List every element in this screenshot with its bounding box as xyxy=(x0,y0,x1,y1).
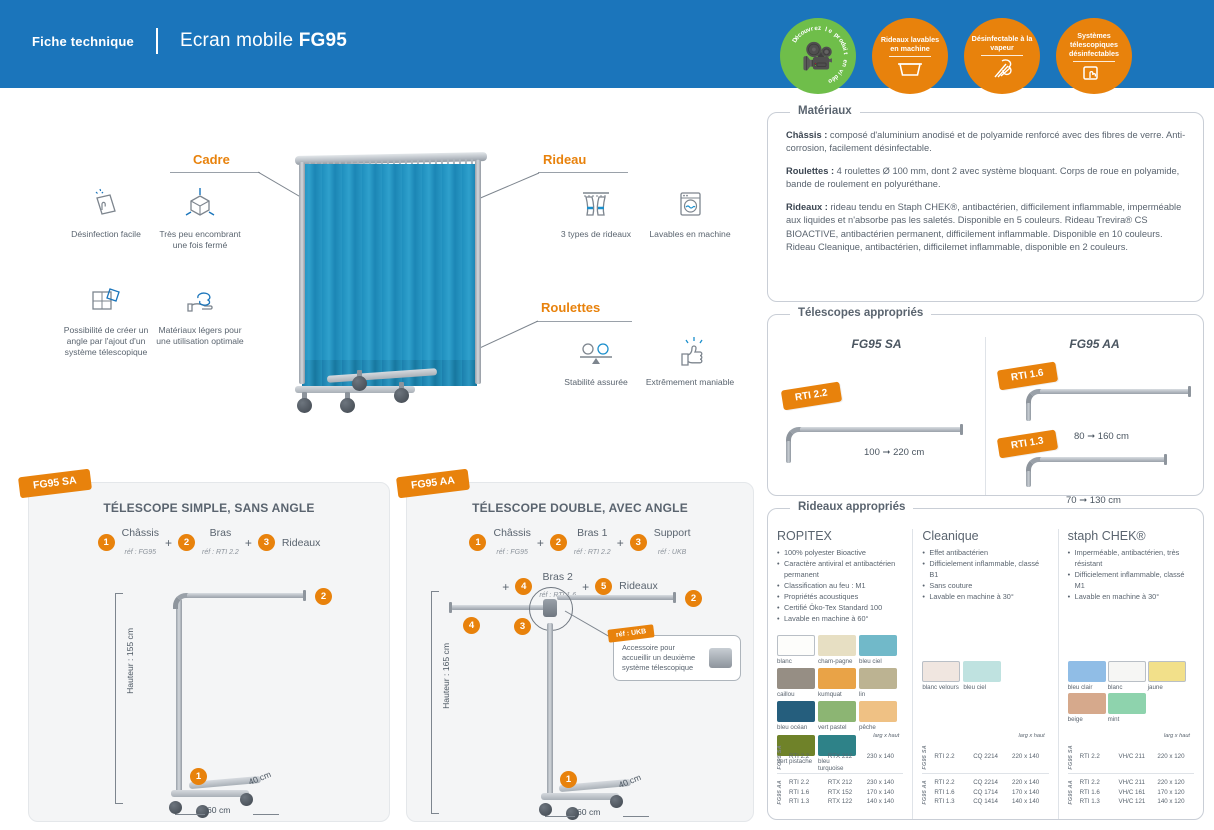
feature-compact-label: Très peu encombrant une fois fermé xyxy=(152,229,248,251)
table-cell: 170 x 140 xyxy=(1012,788,1049,798)
telescope-rti13-range: 70 ➞ 130 cm xyxy=(1066,495,1121,506)
color-swatch: mint xyxy=(1108,693,1146,723)
step-number: 3 xyxy=(630,534,647,551)
telescope-aa-title: FG95 AA xyxy=(986,337,1203,351)
blue-curtain xyxy=(302,164,477,386)
telescopes-columns: FG95 SA RTI 2.2 100 ➞ 220 cm FG95 AA RTI… xyxy=(768,315,1203,495)
curtain-bullet: Difficielement inflammable, classé B1 xyxy=(922,559,1048,581)
feature-disinfection-label: Désinfection facile xyxy=(58,229,154,240)
curtain-bullet: 100% polyester Bioactive xyxy=(777,548,903,559)
ref-table-rows: RTI 2.2RTX 212230 x 140RTI 1.6RTX 152170… xyxy=(789,778,903,807)
ref-table-rows: RTI 2.2CQ 2214220 x 140 xyxy=(934,752,1048,762)
plus-sign: + xyxy=(165,536,172,550)
ref-table-group: FG95 SARTI 2.2VH/C 211220 x 120 xyxy=(1068,741,1194,774)
fiche-technique-label: Fiche technique xyxy=(32,34,134,49)
color-swatch-label: jaune xyxy=(1148,684,1186,691)
feature-disinfection: Désinfection facile xyxy=(58,182,154,240)
curtain-column-ropitex: ROPITEX 100% polyester BioactiveCaractèr… xyxy=(768,529,912,819)
table-row: RTI 2.2VH/C 211220 x 120 xyxy=(1080,752,1194,762)
curtain-ropitex-name: ROPITEX xyxy=(777,529,903,543)
panel-aa-marker-arm4: 4 xyxy=(463,617,480,634)
curtain-bullet: Lavable en machine à 30° xyxy=(922,592,1048,603)
curtain-bullet: Caractère antiviral et antibactérien per… xyxy=(777,559,903,581)
step-number: 4 xyxy=(515,578,532,595)
color-swatch: bleu clair xyxy=(1068,661,1106,691)
curtain-cleanique-swatches: blanc veloursbleu ciel xyxy=(922,661,1048,691)
plus-sign: + xyxy=(245,536,252,550)
telescope-column-aa: FG95 AA RTI 1.6 80 ➞ 160 cm RTI 1.3 70 ➞… xyxy=(985,337,1203,495)
panel-sa-post xyxy=(176,599,182,797)
feature-curtain-types: 3 types de rideaux xyxy=(548,182,644,240)
table-cell: VH/C 211 xyxy=(1119,752,1158,762)
callout-cadre: Cadre xyxy=(193,152,230,167)
materials-roulettes: Roulettes : 4 roulettes Ø 100 mm, dont 2… xyxy=(786,165,1187,192)
ref-table-group-tag: FG95 AA xyxy=(1068,780,1074,805)
table-row: RTI 1.3CQ 1414140 x 140 xyxy=(934,797,1048,807)
color-swatch-box xyxy=(818,668,856,689)
rod-vertical xyxy=(786,441,791,463)
feature-stability-label: Stabilité assurée xyxy=(548,377,644,388)
table-cell: RTI 2.2 xyxy=(1080,778,1119,788)
table-row: RTI 2.2VH/C 211220 x 120 xyxy=(1080,778,1194,788)
color-swatch-label: cham-pagne xyxy=(818,658,856,665)
rod-end-cap xyxy=(960,424,963,435)
curtain-ropitex-table: larg x hautFG95 SARTI 2.2RTX 212230 x 14… xyxy=(777,733,903,811)
curtain-staphchek-name: staph CHEK® xyxy=(1068,529,1194,543)
color-swatch-box xyxy=(1148,661,1186,682)
table-cell: RTX 212 xyxy=(828,752,867,762)
frame-post-right xyxy=(475,160,481,384)
materials-rideaux: Rideaux : rideau tendu en Staph CHEK®, a… xyxy=(786,201,1187,255)
color-swatch-box xyxy=(777,635,815,656)
color-swatch-label: beige xyxy=(1068,716,1106,723)
panel-sa-step-1: 1 Châssis réf : FG95 xyxy=(98,527,159,559)
table-cell: 220 x 120 xyxy=(1157,752,1194,762)
telescopes-card-label: Télescopes appropriés xyxy=(790,307,931,319)
telescope-ribbon-rti22: RTI 2.2 xyxy=(781,382,842,411)
curtain-cleanique-table: larg x hautFG95 SARTI 2.2CQ 2214220 x 14… xyxy=(922,733,1048,811)
washable-badge-label: Rideaux lavables en machine xyxy=(876,35,944,53)
color-swatch: blanc xyxy=(1108,661,1146,691)
color-swatch-box xyxy=(922,661,960,682)
color-swatch: lin xyxy=(859,668,897,698)
table-cell: CQ 2214 xyxy=(973,752,1012,762)
plus-sign: + xyxy=(582,580,589,594)
table-cell: RTI 1.6 xyxy=(934,788,973,798)
telescope-rod-rti16 xyxy=(1026,385,1194,425)
ref-table-rows: RTI 2.2VH/C 211220 x 120RTI 1.6VH/C 1611… xyxy=(1080,778,1194,807)
color-swatch: pêche xyxy=(859,701,897,731)
color-swatch: bleu océan xyxy=(777,701,815,731)
curtain-column-cleanique: Cleanique Effet antibactérienDifficielem… xyxy=(912,529,1057,819)
curtains-columns: ROPITEX 100% polyester BioactiveCaractèr… xyxy=(768,509,1203,819)
color-swatch-label: kumquat xyxy=(818,691,856,698)
header-divider xyxy=(156,28,158,54)
page-title-model: FG95 xyxy=(299,30,347,51)
telescope-sa-range: 100 ➞ 220 cm xyxy=(864,447,924,458)
panel-sa-marker-arm: 2 xyxy=(315,588,332,605)
step-number: 3 xyxy=(258,534,275,551)
curtain-ropitex-bullets: 100% polyester BioactiveCaractère antivi… xyxy=(777,548,903,625)
color-swatch-label: blanc xyxy=(1108,684,1146,691)
table-row: RTI 1.6RTX 152170 x 140 xyxy=(789,788,903,798)
table-cell: 220 x 120 xyxy=(1157,778,1194,788)
table-cell: RTI 2.2 xyxy=(934,752,973,762)
color-swatch-label: blanc velours xyxy=(922,684,960,691)
rod-horizontal xyxy=(1040,389,1190,394)
rod-horizontal xyxy=(1040,457,1166,462)
panel-sa-width-line-right xyxy=(253,814,279,815)
panel-aa-width-line-left xyxy=(545,816,575,817)
panel-sa-width-line-left xyxy=(175,814,205,815)
hand-wipe-icon xyxy=(1082,64,1106,82)
panel-sa-caster-1 xyxy=(169,801,182,814)
wash-basin-icon xyxy=(897,59,923,77)
panel-sa-base-front xyxy=(171,790,249,797)
step-ref: réf : RTI 2.2 xyxy=(202,549,239,556)
color-swatch: beige xyxy=(1068,693,1106,723)
feature-machine-washable: Lavables en machine xyxy=(642,182,738,240)
color-swatch-box xyxy=(963,661,1001,682)
feature-maneuverable-label: Extrêmement maniable xyxy=(642,377,738,388)
curtain-staphchek-swatches: bleu clairblancjaunebeigemint xyxy=(1068,661,1194,724)
table-cell: RTX 212 xyxy=(828,778,867,788)
feature-machine-washable-label: Lavables en machine xyxy=(642,229,738,240)
materials-rideaux-term: Rideaux : xyxy=(786,202,828,212)
table-cell: 230 x 140 xyxy=(867,778,904,788)
color-swatch-box xyxy=(818,701,856,722)
color-swatch-box xyxy=(859,701,897,722)
ref-table-group-tag: FG95 AA xyxy=(922,780,928,805)
table-cell: 170 x 140 xyxy=(867,788,904,798)
panel-aa-step-1: 1 Châssis réf : FG95 xyxy=(469,527,530,559)
panel-sa-depth-dim: 40 cm xyxy=(247,769,272,787)
curtain-column-staphchek: staph CHEK® Imperméable, antibactérien, … xyxy=(1058,529,1203,819)
curtain-bullet: Lavable en machine à 30° xyxy=(1068,592,1194,603)
materials-rideaux-text: rideau tendu en Staph CHEK®, antibactéri… xyxy=(786,202,1181,252)
panel-sa-height-tick-top xyxy=(115,593,123,594)
washing-machine-icon xyxy=(642,182,738,224)
curtain-bullet: Effet antibactérien xyxy=(922,548,1048,559)
step-ref: réf : FG95 xyxy=(496,549,528,556)
callout-roulettes: Roulettes xyxy=(541,300,600,315)
caster-4 xyxy=(352,376,367,391)
feature-angle-label: Possibilité de créer un angle par l'ajou… xyxy=(58,325,154,359)
header-titles: Fiche technique Ecran mobile FG95 xyxy=(32,28,347,54)
color-swatch-box xyxy=(1108,693,1146,714)
frame-post-left xyxy=(299,162,305,384)
table-cell: RTX 122 xyxy=(828,797,867,807)
step-name: Bras xyxy=(202,527,239,540)
panel-aa-marker-base: 1 xyxy=(560,771,577,788)
panel-aa-width-line-right xyxy=(623,816,649,817)
table-row: RTI 2.2RTX 212230 x 140 xyxy=(789,752,903,762)
panel-sa-marker-base: 1 xyxy=(190,768,207,785)
badge-rule xyxy=(889,56,931,57)
rod-vertical xyxy=(1026,471,1031,487)
step-name: Châssis xyxy=(122,527,159,540)
callout-rideau-rule xyxy=(538,172,628,173)
step-name: Châssis xyxy=(493,527,530,540)
color-swatch: vert pastel xyxy=(818,701,856,731)
accessory-callout: réf : UKB Accessoire pour accueillir un … xyxy=(613,635,741,681)
color-swatch-label: blanc xyxy=(777,658,815,665)
color-swatch: kumquat xyxy=(818,668,856,698)
panel-sa-arm-cap xyxy=(303,590,306,601)
panel-aa-height-tick-top xyxy=(431,591,439,592)
product-illustration xyxy=(275,140,505,425)
color-swatch-label: bleu ciel xyxy=(859,658,897,665)
panel-sa-step-2: 2 Bras réf : RTI 2.2 xyxy=(178,527,239,559)
ref-table-header: larg x haut xyxy=(1068,733,1194,739)
step-name: Bras 1 xyxy=(574,527,611,540)
curtain-bullet: Sans couture xyxy=(922,581,1048,592)
panel-sa-height-line xyxy=(115,593,116,803)
ref-table-header: larg x haut xyxy=(922,733,1048,739)
video-badge-char: t xyxy=(842,52,849,55)
color-swatch-box xyxy=(1068,693,1106,714)
table-cell: VH/C 161 xyxy=(1119,788,1158,798)
callout-roulettes-rule xyxy=(536,321,632,322)
panel-sa-height-dim: Hauteur : 155 cm xyxy=(125,628,135,694)
feature-angle: Possibilité de créer un angle par l'ajou… xyxy=(58,278,154,359)
ref-table-group: FG95 AARTI 2.2RTX 212230 x 140RTI 1.6RTX… xyxy=(777,773,903,811)
telescope-column-sa: FG95 SA RTI 2.2 100 ➞ 220 cm xyxy=(768,337,985,495)
step-ref: réf : RTI 2.2 xyxy=(574,549,611,556)
accessory-part-image xyxy=(709,648,732,668)
panel-aa-arm-right-cap xyxy=(673,592,676,603)
table-cell: CQ 2214 xyxy=(973,778,1012,788)
table-cell: RTI 1.3 xyxy=(934,797,973,807)
panel-sa-caster-3 xyxy=(240,793,253,806)
ref-table-rows: RTI 2.2CQ 2214220 x 140RTI 1.6CQ 1714170… xyxy=(934,778,1048,807)
table-cell: RTI 2.2 xyxy=(1080,752,1119,762)
plus-sign: + xyxy=(537,536,544,550)
ref-table-header: larg x haut xyxy=(777,733,903,739)
panel-aa-marker-support: 3 xyxy=(514,618,531,635)
curtains-card: Rideaux appropriés ROPITEX 100% polyeste… xyxy=(767,508,1204,820)
materials-roulettes-term: Roulettes : xyxy=(786,166,834,176)
feature-light: Matériaux légers pour une utilisation op… xyxy=(152,278,248,347)
color-swatch-box xyxy=(777,668,815,689)
video-badge-char: i xyxy=(841,48,848,51)
curtain-icon xyxy=(548,182,644,224)
curtains-card-label: Rideaux appropriés xyxy=(790,501,913,513)
table-row: RTI 2.2RTX 212230 x 140 xyxy=(789,778,903,788)
table-cell: 140 x 140 xyxy=(867,797,904,807)
curtain-staphchek-table: larg x hautFG95 SARTI 2.2VH/C 211220 x 1… xyxy=(1068,733,1194,811)
feature-compact: Très peu encombrant une fois fermé xyxy=(152,182,248,251)
plus-sign: + xyxy=(502,580,509,594)
step-number: 2 xyxy=(550,534,567,551)
color-swatch-label: caillou xyxy=(777,691,815,698)
curtain-cleanique-bullets: Effet antibactérienDifficielement inflam… xyxy=(922,548,1048,603)
panel-aa-step-3: 3 Support réf : UKB xyxy=(630,527,691,559)
rod-end-cap xyxy=(1188,386,1191,397)
caster-1 xyxy=(297,398,312,413)
color-swatch-box xyxy=(777,701,815,722)
video-badge-ring: Découvrez le produit en vidéo xyxy=(780,18,856,94)
table-cell: RTI 2.2 xyxy=(789,752,828,762)
color-swatch-label: lin xyxy=(859,691,897,698)
table-cell: 140 x 120 xyxy=(1157,797,1194,807)
curtain-bullet: Lavable en machine à 60° xyxy=(777,614,903,625)
curtain-bullet: Propriétés acoustiques xyxy=(777,592,903,603)
callout-rideau: Rideau xyxy=(543,152,586,167)
feature-curtain-types-label: 3 types de rideaux xyxy=(548,229,644,240)
curtain-staphchek-bullets: Imperméable, antibactérien, très résista… xyxy=(1068,548,1194,603)
plus-sign: + xyxy=(617,536,624,550)
step-number: 5 xyxy=(595,578,612,595)
materials-roulettes-text: 4 roulettes Ø 100 mm, dont 2 avec systèm… xyxy=(786,166,1179,189)
table-row: RTI 1.3RTX 122140 x 140 xyxy=(789,797,903,807)
badge-rule xyxy=(1073,61,1115,62)
table-row: RTI 1.3VH/C 121140 x 120 xyxy=(1080,797,1194,807)
page-title-prefix: Ecran mobile xyxy=(180,30,299,51)
step-name: Support xyxy=(654,527,691,540)
telescope-sa-title: FG95 SA xyxy=(768,337,985,351)
step-number: 1 xyxy=(98,534,115,551)
panel-aa-arm-right xyxy=(557,595,675,600)
panel-aa-support-block xyxy=(543,599,557,617)
rod-horizontal xyxy=(800,427,962,432)
color-swatch-box xyxy=(859,635,897,656)
table-cell: CQ 1414 xyxy=(973,797,1012,807)
callout-cadre-rule xyxy=(170,172,260,173)
ref-table-group: FG95 SARTI 2.2RTX 212230 x 140 xyxy=(777,741,903,774)
step-name: Rideaux xyxy=(282,537,321,550)
feature-badges: Découvrez le produit en vidéo 🎥 Rideaux … xyxy=(780,18,1132,94)
ref-table-rows: RTI 2.2VH/C 211220 x 120 xyxy=(1080,752,1194,762)
table-cell: 220 x 140 xyxy=(1012,778,1049,788)
table-cell: RTI 1.6 xyxy=(1080,788,1119,798)
panel-aa-post xyxy=(547,623,553,799)
materials-card-label: Matériaux xyxy=(790,105,860,117)
color-swatch-box xyxy=(818,635,856,656)
puzzle-angle-icon xyxy=(58,278,154,320)
panel-aa-height-line xyxy=(431,591,432,813)
color-swatch: cham-pagne xyxy=(818,635,856,665)
panel-aa-depth-dim: 40 cm xyxy=(617,772,642,790)
badge-rule xyxy=(981,55,1023,56)
table-cell: 220 x 140 xyxy=(1012,752,1049,762)
ref-table-group-tag: FG95 AA xyxy=(777,780,783,805)
color-swatch: blanc xyxy=(777,635,815,665)
step-ref: réf : FG95 xyxy=(125,549,157,556)
thumb-up-icon xyxy=(642,330,738,372)
panel-sa-step-3: 3 Rideaux xyxy=(258,534,321,551)
table-cell: RTI 1.6 xyxy=(789,788,828,798)
panel-sa-recipe: 1 Châssis réf : FG95 + 2 Bras réf : RTI … xyxy=(29,515,389,559)
telescope-rti16-range: 80 ➞ 160 cm xyxy=(1074,431,1129,442)
panel-aa-caster-3 xyxy=(610,795,623,808)
color-swatch-label: bleu océan xyxy=(777,724,815,731)
color-swatch: bleu ciel xyxy=(859,635,897,665)
table-cell: 230 x 140 xyxy=(867,752,904,762)
rod-end-cap xyxy=(1164,454,1167,465)
telescopic-badge: Systèmes télescopiques désinfectables xyxy=(1056,18,1132,94)
panel-sa-width-dim: 60 cm xyxy=(207,805,230,815)
color-swatch-box xyxy=(1108,661,1146,682)
caster-2 xyxy=(340,398,355,413)
materials-body: Châssis : composé d'aluminium anodisé et… xyxy=(768,113,1203,255)
curtain-bullet: Classification au feu : M1 xyxy=(777,581,903,592)
color-swatch: blanc velours xyxy=(922,661,960,691)
panel-aa-arm-left-cap xyxy=(449,602,452,613)
table-cell: VH/C 121 xyxy=(1119,797,1158,807)
panel-aa-step-5: 5 Rideaux xyxy=(595,578,658,595)
balance-icon xyxy=(548,330,644,372)
table-cell: VH/C 211 xyxy=(1119,778,1158,788)
color-swatch-box xyxy=(859,668,897,689)
video-badge-char xyxy=(842,56,849,58)
telescope-rod-sa xyxy=(786,423,966,469)
curtain-bullet: Difficielement inflammable, classé M1 xyxy=(1068,570,1194,592)
ref-table-rows: RTI 2.2RTX 212230 x 140 xyxy=(789,752,903,762)
materials-chassis: Châssis : composé d'aluminium anodisé et… xyxy=(786,129,1187,156)
curtain-bullet: Certifié Öko-Tex Standard 100 xyxy=(777,603,903,614)
accessory-text: Accessoire pour accueillir un deuxième s… xyxy=(622,643,705,673)
color-swatch: bleu ciel xyxy=(963,661,1001,691)
ref-table-group-tag: FG95 SA xyxy=(777,745,783,770)
cube-compact-icon xyxy=(152,182,248,224)
step-ref: réf : UKB xyxy=(658,549,686,556)
color-swatch: caillou xyxy=(777,668,815,698)
video-badge[interactable]: Découvrez le produit en vidéo 🎥 xyxy=(780,18,856,94)
table-cell: RTI 2.2 xyxy=(789,778,828,788)
panel-fg95-aa: FG95 AA TÉLESCOPE DOUBLE, AVEC ANGLE 1 C… xyxy=(406,482,754,822)
washable-badge: Rideaux lavables en machine xyxy=(872,18,948,94)
panel-aa-height-tick-bot xyxy=(431,813,439,814)
panel-aa-width-dim: 60 cm xyxy=(577,807,600,817)
step-name: Bras 2 xyxy=(539,571,576,584)
steam-badge: Désinfectable à la vapeur xyxy=(964,18,1040,94)
table-cell: RTI 2.2 xyxy=(934,778,973,788)
panel-sa-height-tick-bot xyxy=(115,803,123,804)
feature-stability: Stabilité assurée xyxy=(548,330,644,388)
materials-chassis-text: composé d'aluminium anodisé et de polyam… xyxy=(786,130,1185,153)
table-row: RTI 2.2CQ 2214220 x 140 xyxy=(934,778,1048,788)
ref-table-group-tag: FG95 SA xyxy=(922,745,928,770)
rod-vertical xyxy=(1026,403,1031,421)
table-cell: RTX 152 xyxy=(828,788,867,798)
panel-aa-base-front xyxy=(541,793,619,800)
ref-table-group: FG95 AARTI 2.2CQ 2214220 x 140RTI 1.6CQ … xyxy=(922,773,1048,811)
ref-table-group: FG95 SARTI 2.2CQ 2214220 x 140 xyxy=(922,741,1048,774)
step-number: 2 xyxy=(178,534,195,551)
step-number: 1 xyxy=(469,534,486,551)
telescope-rod-rti13 xyxy=(1026,453,1176,489)
color-swatch-label: pêche xyxy=(859,724,897,731)
steam-badge-label: Désinfectable à la vapeur xyxy=(968,34,1036,52)
panel-aa-recipe: 1 Châssis réf : FG95 + 2 Bras 1 réf : RT… xyxy=(407,515,753,603)
curtain-bullet: Imperméable, antibactérien, très résista… xyxy=(1068,548,1194,570)
feature-light-label: Matériaux légers pour une utilisation op… xyxy=(152,325,248,347)
telescopic-badge-label: Systèmes télescopiques désinfectables xyxy=(1060,31,1128,58)
disinfect-wipe-icon xyxy=(58,182,154,224)
table-cell: 140 x 140 xyxy=(1012,797,1049,807)
telescopes-card: Télescopes appropriés FG95 SA RTI 2.2 10… xyxy=(767,314,1204,496)
panel-aa-marker-arm2: 2 xyxy=(685,590,702,607)
panel-aa-height-dim: Hauteur : 165 cm xyxy=(441,643,451,709)
ref-table-group-tag: FG95 SA xyxy=(1068,745,1074,770)
color-swatch-box xyxy=(1068,661,1106,682)
step-name: Rideaux xyxy=(619,580,658,593)
table-cell: CQ 1714 xyxy=(973,788,1012,798)
table-row: RTI 1.6CQ 1714170 x 140 xyxy=(934,788,1048,798)
color-swatch-label: bleu ciel xyxy=(963,684,1001,691)
panel-sa-arm xyxy=(187,593,305,598)
